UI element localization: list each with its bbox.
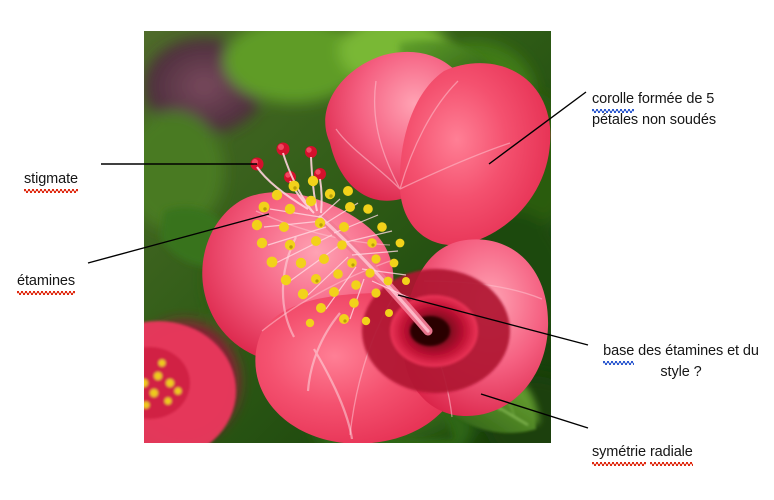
- annotation-symetrie[interactable]: symétrie radiale: [592, 421, 772, 463]
- annotation-base-etamines[interactable]: base des étamines et du style ?: [590, 320, 772, 383]
- annotation-etamines-text: étamines: [17, 271, 75, 292]
- annotation-corolle-word1: corolle: [592, 89, 634, 110]
- annotation-base-word1: base: [603, 341, 634, 362]
- slide-canvas: corolle formée de 5 pétales non soudés s…: [0, 0, 774, 500]
- hibiscus-illustration: [144, 31, 551, 443]
- annotation-etamines[interactable]: étamines: [17, 250, 127, 292]
- annotation-symetrie-word2: radiale: [650, 442, 693, 463]
- annotation-corolle[interactable]: corolle formée de 5 pétales non soudés: [592, 68, 772, 131]
- annotation-stigmate-text: stigmate: [24, 169, 78, 190]
- hibiscus-photo[interactable]: [144, 31, 551, 443]
- annotation-stigmate[interactable]: stigmate: [24, 148, 134, 190]
- annotation-base-rest: des étamines et du style ?: [634, 343, 759, 380]
- annotation-symetrie-word1: symétrie: [592, 442, 646, 463]
